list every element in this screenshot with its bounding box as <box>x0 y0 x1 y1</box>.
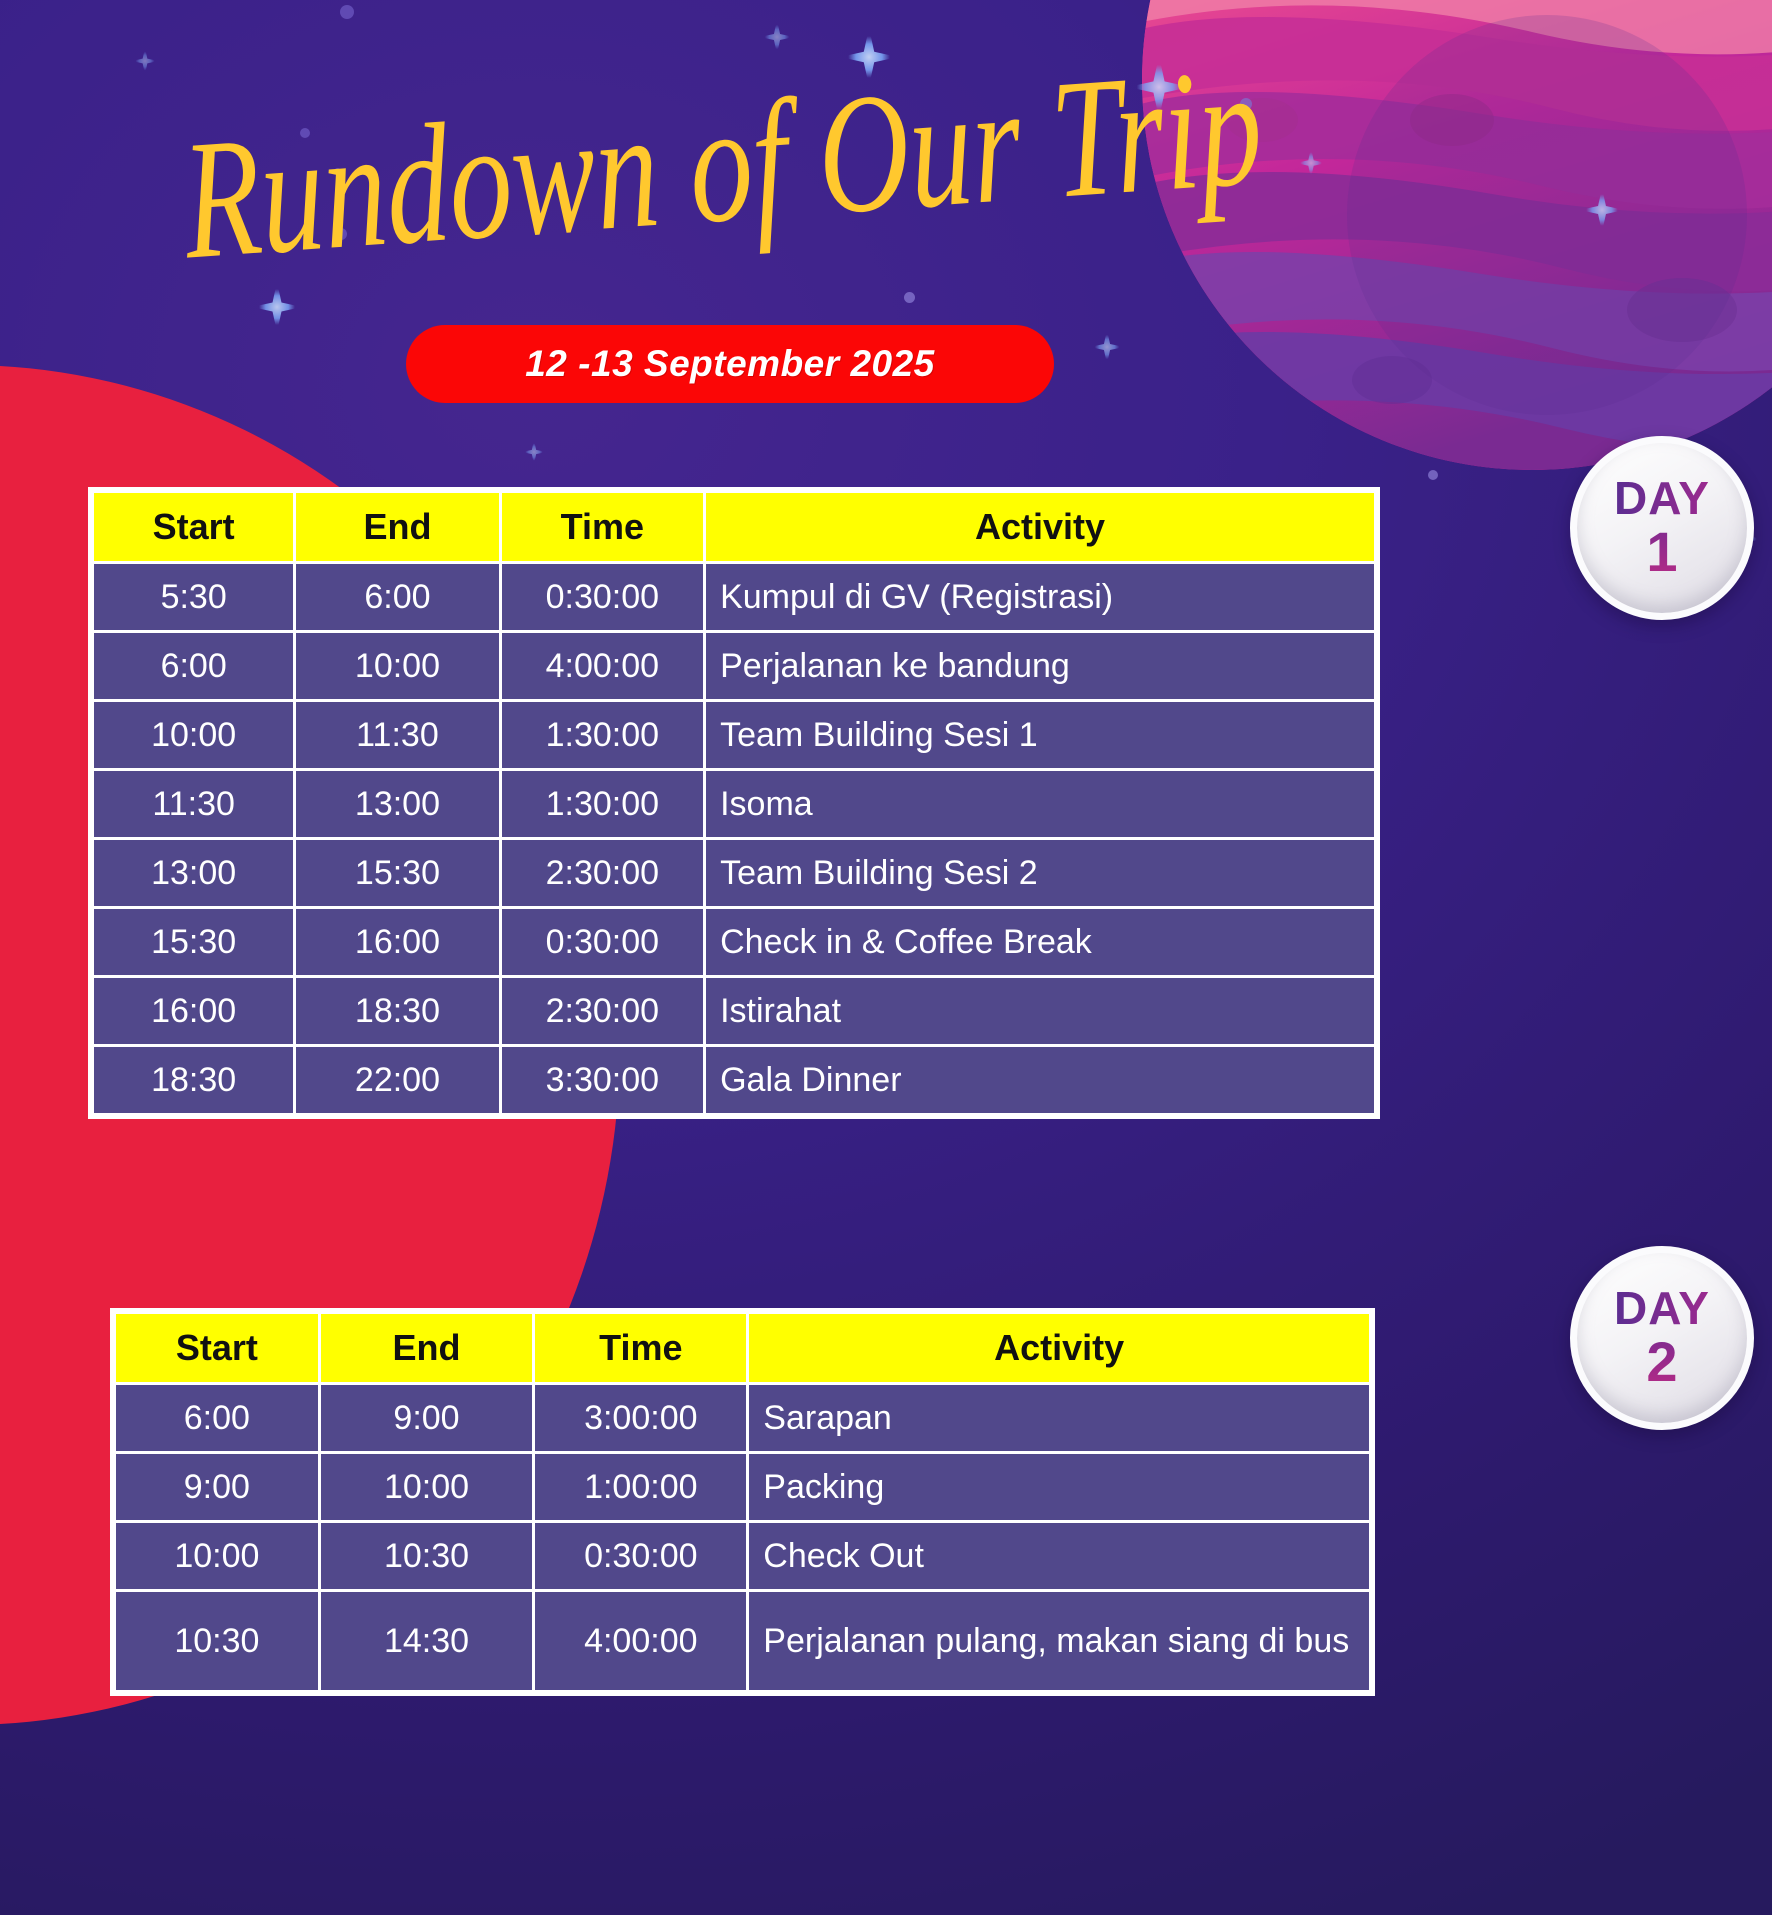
table-row: 15:3016:000:30:00Check in & Coffee Break <box>94 909 1374 975</box>
star-dot <box>1428 470 1438 480</box>
star-dot <box>340 5 354 19</box>
cell-end: 10:00 <box>321 1454 533 1520</box>
cell-start: 10:00 <box>94 702 293 768</box>
cell-activity: Packing <box>749 1454 1369 1520</box>
cell-time: 2:30:00 <box>502 978 703 1044</box>
cell-activity: Team Building Sesi 2 <box>706 840 1374 906</box>
cell-end: 9:00 <box>321 1385 533 1451</box>
cell-start: 13:00 <box>94 840 293 906</box>
date-badge-text: 12 -13 September 2025 <box>525 343 935 385</box>
cell-activity: Kumpul di GV (Registrasi) <box>706 564 1374 630</box>
table-row: 16:0018:302:30:00Istirahat <box>94 978 1374 1044</box>
cell-end: 14:30 <box>321 1592 533 1690</box>
cell-activity: Team Building Sesi 1 <box>706 702 1374 768</box>
cell-activity: Perjalanan ke bandung <box>706 633 1374 699</box>
sparkle-icon <box>522 440 546 464</box>
cell-end: 22:00 <box>296 1047 498 1113</box>
sparkle-icon <box>1090 330 1124 364</box>
cell-activity: Isoma <box>706 771 1374 837</box>
table-header-row: Start End Time Activity <box>94 493 1374 561</box>
day-1-badge: DAY 1 <box>1570 436 1754 620</box>
cell-time: 3:00:00 <box>535 1385 746 1451</box>
cell-time: 1:30:00 <box>502 771 703 837</box>
table-row: 11:3013:001:30:00Isoma <box>94 771 1374 837</box>
cell-time: 4:00:00 <box>502 633 703 699</box>
column-header-start: Start <box>116 1314 318 1382</box>
table-row: 6:009:003:00:00Sarapan <box>116 1385 1369 1451</box>
cell-time: 4:00:00 <box>535 1592 746 1690</box>
cell-end: 10:30 <box>321 1523 533 1589</box>
table-row: 13:0015:302:30:00Team Building Sesi 2 <box>94 840 1374 906</box>
cell-start: 10:00 <box>116 1523 318 1589</box>
date-badge: 12 -13 September 2025 <box>406 325 1054 403</box>
table-row: 18:3022:003:30:00Gala Dinner <box>94 1047 1374 1113</box>
day-2-badge: DAY 2 <box>1570 1246 1754 1430</box>
cell-time: 0:30:00 <box>535 1523 746 1589</box>
column-header-start: Start <box>94 493 293 561</box>
cell-time: 3:30:00 <box>502 1047 703 1113</box>
day-2-badge-label: DAY <box>1614 1286 1710 1331</box>
cell-time: 1:00:00 <box>535 1454 746 1520</box>
cell-time: 0:30:00 <box>502 564 703 630</box>
sparkle-icon <box>1580 188 1624 232</box>
table-header-row: Start End Time Activity <box>116 1314 1369 1382</box>
table-row: 10:3014:304:00:00Perjalanan pulang, maka… <box>116 1592 1369 1690</box>
table-row: 10:0010:300:30:00Check Out <box>116 1523 1369 1589</box>
cell-end: 18:30 <box>296 978 498 1044</box>
cell-end: 13:00 <box>296 771 498 837</box>
column-header-end: End <box>321 1314 533 1382</box>
cell-end: 6:00 <box>296 564 498 630</box>
cell-start: 11:30 <box>94 771 293 837</box>
cell-start: 6:00 <box>116 1385 318 1451</box>
table-row: 10:0011:301:30:00Team Building Sesi 1 <box>94 702 1374 768</box>
cell-activity: Check Out <box>749 1523 1369 1589</box>
cell-time: 0:30:00 <box>502 909 703 975</box>
cell-start: 18:30 <box>94 1047 293 1113</box>
table-row: 6:0010:004:00:00Perjalanan ke bandung <box>94 633 1374 699</box>
poster-canvas: Rundown of Our Trip 12 -13 September 202… <box>0 0 1772 1915</box>
table-row: 5:306:000:30:00Kumpul di GV (Registrasi) <box>94 564 1374 630</box>
cell-start: 5:30 <box>94 564 293 630</box>
column-header-time: Time <box>535 1314 746 1382</box>
column-header-activity: Activity <box>706 493 1374 561</box>
column-header-activity: Activity <box>749 1314 1369 1382</box>
cell-end: 11:30 <box>296 702 498 768</box>
column-header-time: Time <box>502 493 703 561</box>
day-1-badge-number: 1 <box>1646 524 1677 580</box>
day-1-badge-label: DAY <box>1614 476 1710 521</box>
cell-start: 6:00 <box>94 633 293 699</box>
sparkle-icon <box>760 20 794 54</box>
day-2-badge-number: 2 <box>1646 1334 1677 1390</box>
cell-activity: Check in & Coffee Break <box>706 909 1374 975</box>
poster-title-text: Rundown of Our Trip <box>176 32 1267 295</box>
column-header-end: End <box>296 493 498 561</box>
cell-start: 15:30 <box>94 909 293 975</box>
cell-activity: Gala Dinner <box>706 1047 1374 1113</box>
cell-time: 2:30:00 <box>502 840 703 906</box>
day2-schedule-table: Start End Time Activity 6:009:003:00:00S… <box>110 1308 1375 1696</box>
cell-activity: Perjalanan pulang, makan siang di bus <box>749 1592 1369 1690</box>
cell-activity: Istirahat <box>706 978 1374 1044</box>
cell-start: 9:00 <box>116 1454 318 1520</box>
cell-end: 10:00 <box>296 633 498 699</box>
cell-end: 16:00 <box>296 909 498 975</box>
cell-activity: Sarapan <box>749 1385 1369 1451</box>
table-row: 9:0010:001:00:00Packing <box>116 1454 1369 1520</box>
poster-title: Rundown of Our Trip <box>0 60 1450 295</box>
day1-schedule-table: Start End Time Activity 5:306:000:30:00K… <box>88 487 1380 1119</box>
cell-start: 10:30 <box>116 1592 318 1690</box>
cell-time: 1:30:00 <box>502 702 703 768</box>
cell-end: 15:30 <box>296 840 498 906</box>
cell-start: 16:00 <box>94 978 293 1044</box>
